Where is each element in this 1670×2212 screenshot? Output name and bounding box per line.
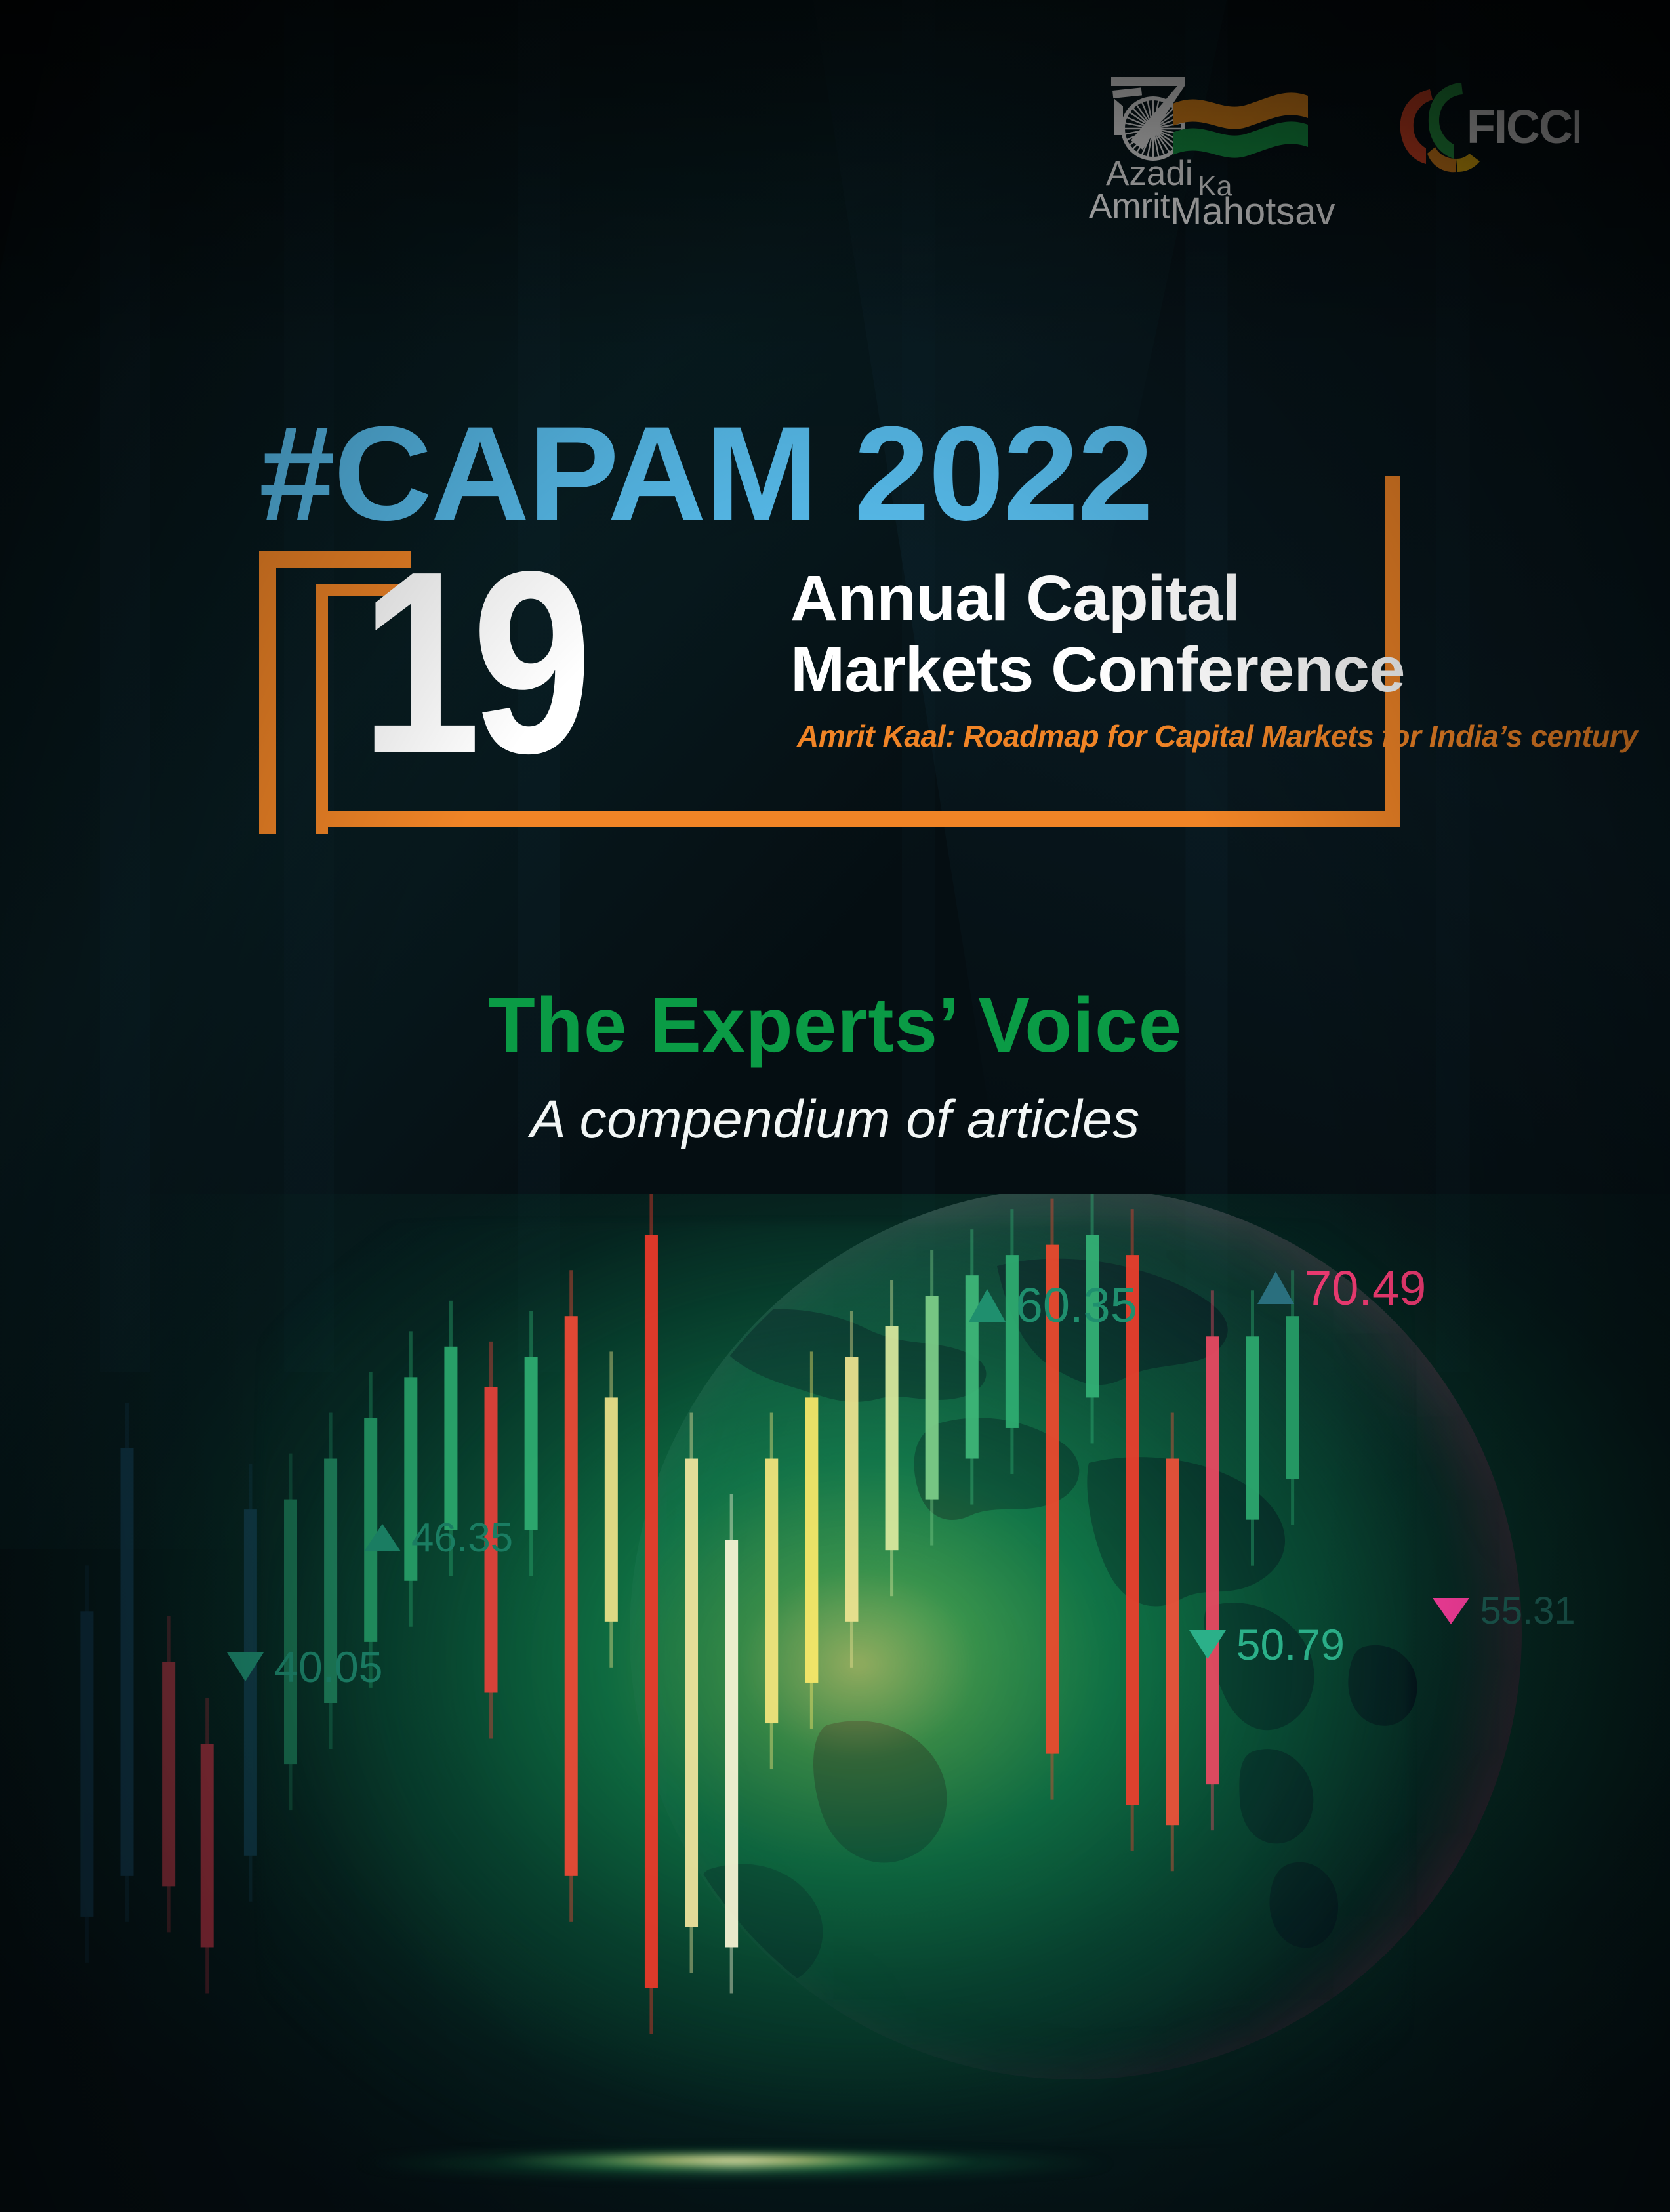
candlestick	[725, 1494, 738, 1994]
compendium-title: The Experts’ Voice	[0, 981, 1670, 1070]
candlestick	[886, 1280, 899, 1596]
conference-line-1: Annual Capital	[790, 562, 1240, 634]
bottom-lens-flare-core	[485, 2152, 984, 2169]
candlestick	[284, 1454, 297, 1811]
ticker-value: 60.35	[1016, 1277, 1137, 1333]
conference-name: Annual CapitalMarkets Conference	[790, 563, 1405, 705]
candlestick	[605, 1351, 618, 1667]
candlestick	[966, 1229, 979, 1504]
cover-artwork: 46.35 40.05 60.35 70.49 50.79 55.31	[0, 1194, 1670, 2212]
ticker-value: 55.31	[1480, 1589, 1575, 1633]
candlestick	[162, 1616, 175, 1932]
compendium-subtitle: A compendium of articles	[0, 1089, 1670, 1151]
candlestick	[805, 1351, 818, 1729]
title-lockup: #CAPAM 2022 19 Annual CapitalMarkets Con…	[259, 420, 1400, 827]
triangle-down-icon	[227, 1652, 264, 1681]
conference-tagline: Amrit Kaal: Roadmap for Capital Markets …	[797, 718, 1638, 754]
triangle-up-icon	[1257, 1271, 1294, 1304]
triangle-up-icon	[969, 1289, 1006, 1322]
frame-bottom-rail	[316, 811, 1400, 827]
ticker-value: 50.79	[1236, 1620, 1345, 1669]
candlestick	[120, 1403, 133, 1922]
candlestick	[565, 1270, 578, 1922]
candlestick	[926, 1250, 939, 1545]
candlestick	[404, 1331, 417, 1626]
ficci-wordmark: FICCI	[1467, 101, 1579, 154]
candlestick	[1206, 1290, 1219, 1830]
ticker-value: 46.35	[411, 1515, 513, 1561]
triangle-up-icon	[364, 1524, 401, 1551]
candlestick	[1166, 1413, 1179, 1872]
conference-line-2: Markets Conference	[790, 634, 1405, 705]
candlestick	[324, 1413, 337, 1749]
azadi-mahotsav: Mahotsav	[1170, 190, 1335, 233]
ticker-value: 70.49	[1305, 1260, 1426, 1316]
logo-row: Azadi Ka Amrit Mahotsav FICCI	[1074, 72, 1579, 236]
candlestick	[525, 1311, 538, 1576]
candlestick	[645, 1194, 658, 2034]
edition-number: 19	[361, 551, 584, 774]
ticker-label-70-49: 70.49	[1257, 1260, 1426, 1316]
ticker-label-60-35: 60.35	[969, 1277, 1137, 1333]
candlestick	[845, 1311, 858, 1668]
ticker-label-40-05: 40.05	[227, 1642, 382, 1692]
triangle-down-icon	[1189, 1630, 1226, 1659]
candlestick	[765, 1413, 778, 1770]
candlestick	[685, 1413, 698, 1973]
ficci-logo: FICCI	[1383, 77, 1579, 182]
ticker-label-55-31: 55.31	[1433, 1589, 1575, 1633]
frame-left-inner-vertical	[316, 584, 328, 834]
azadi-ka-amrit-mahotsav-logo: Azadi Ka Amrit Mahotsav	[1074, 72, 1350, 236]
ticker-label-46-35: 46.35	[364, 1515, 513, 1561]
frame-left-outer-vertical	[259, 551, 276, 834]
ticker-label-50-79: 50.79	[1189, 1620, 1345, 1669]
candlestick	[80, 1565, 93, 1963]
candlestick	[1006, 1209, 1019, 1474]
cover-page: Azadi Ka Amrit Mahotsav FICCI #CAPAM 202…	[0, 0, 1670, 2212]
candlestick-chart	[0, 1194, 1670, 2212]
triangle-down-icon	[1433, 1598, 1469, 1624]
candlestick	[201, 1698, 214, 1993]
candlestick	[1246, 1290, 1259, 1565]
azadi-line2: Amrit	[1089, 187, 1170, 226]
ticker-value: 40.05	[274, 1642, 382, 1692]
